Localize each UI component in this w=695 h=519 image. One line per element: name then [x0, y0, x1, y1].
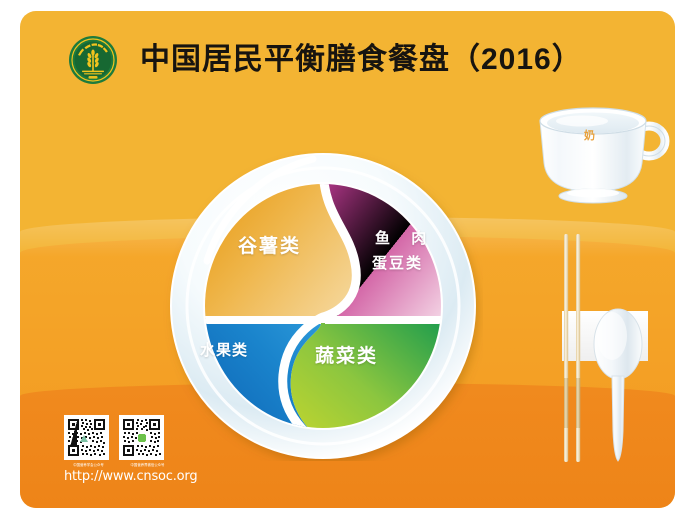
poster-card: 中国居民平衡膳食餐盘（2016）	[20, 11, 675, 508]
qr-code-cns-nutrition[interactable]	[119, 415, 164, 460]
milk-cup-label: 奶	[584, 127, 595, 143]
page-title-main: 中国居民平衡膳食餐盘	[140, 42, 450, 77]
milk-cup-icon: 奶	[516, 97, 675, 207]
chopstick-left	[564, 234, 568, 462]
qr-code-cns-official[interactable]	[64, 415, 109, 460]
china-nutrition-society-logo-icon	[68, 35, 118, 85]
page-title-year: （2016）	[450, 43, 583, 76]
spoon	[594, 309, 642, 461]
website-url[interactable]: http://www.cnsoc.org	[64, 469, 199, 484]
qr-caption-2: 中国营养界微信公众号	[123, 463, 172, 468]
page-title: 中国居民平衡膳食餐盘（2016）	[140, 35, 583, 85]
balanced-diet-plate: 谷薯类 鱼 肉 蛋豆类 蔬菜类 水果类	[163, 151, 483, 461]
cutlery-set	[544, 226, 675, 471]
qr-caption-1: 中国营养学会公众号	[64, 463, 113, 468]
chopstick-right	[576, 234, 580, 462]
poster-root: 中国居民平衡膳食餐盘（2016）	[0, 0, 695, 519]
footer-block: 中国营养学会公众号 中国营养界微信公众号 http://www.cnsoc.or…	[64, 415, 199, 484]
